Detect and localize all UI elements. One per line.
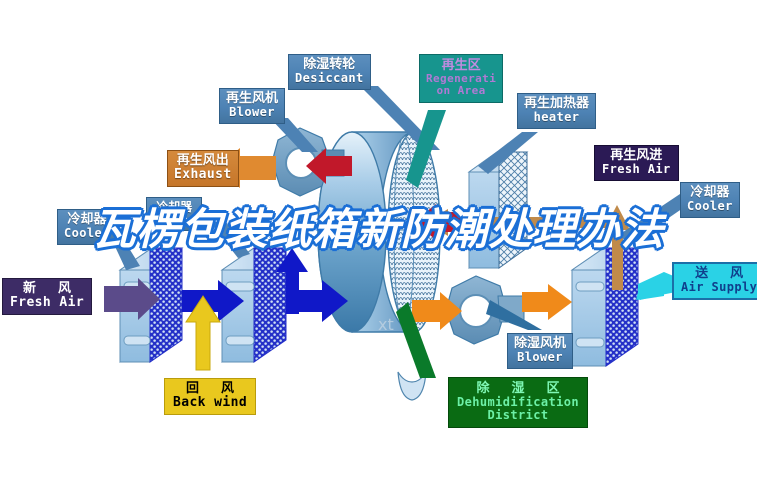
label-air-supply: 送风 Air Supply [672,262,757,300]
label-regen-area-cn: 再生区 [426,59,496,73]
label-dehum-blower-cn: 除湿风机 [514,337,566,351]
label-exhaust-cn: 再生风出 [174,154,232,168]
label-fresh-air: 新风 Fresh Air [2,278,92,315]
label-dehum-district-cn: 除湿区 [457,382,579,396]
dehum-cn2: 湿 [511,381,524,396]
label-heater-en: heater [524,111,589,124]
label-back-wind: 回风 Back wind [164,378,256,415]
label-cooler-middle-en: Cooler [153,214,195,226]
label-dehum-blower-en: Blower [514,351,566,364]
label-exhaust-en: Exhaust [174,168,232,182]
dehum-cn3: 区 [547,381,560,396]
label-dehum-blower: 除湿风机 Blower [507,333,573,369]
label-desiccant-cn: 除湿转轮 [295,58,364,72]
label-desiccant: 除湿转轮 Desiccant [288,54,371,90]
label-desiccant-en: Desiccant [295,72,364,85]
label-exhaust: 再生风出 Exhaust [167,150,239,187]
label-regen-blower: 再生风机 Blower [219,88,285,124]
label-regen-blower-cn: 再生风机 [226,92,278,106]
label-cooler-middle: 冷却器 Cooler [146,197,202,231]
label-air-supply-en: Air Supply [681,281,757,294]
back-wind-cn2: 风 [221,381,234,396]
label-regen-fresh-air-en: Fresh Air [602,163,671,176]
label-dehumidification-district: 除湿区 Dehumidification District [448,377,588,428]
label-cooler-right-cn: 冷却器 [687,186,733,200]
label-heater-cn: 再生加热器 [524,97,589,111]
label-dehum-district-en2: District [457,409,579,422]
regeneration-heater [469,152,527,268]
fresh-air-cn2: 风 [58,281,71,296]
label-back-wind-cn: 回风 [173,382,247,396]
air-supply-cn1: 送 [695,266,708,281]
label-regen-fresh-air-cn: 再生风进 [602,149,671,163]
label-regen-blower-en: Blower [226,106,278,119]
label-cooler-right-en: Cooler [687,200,733,213]
diagram-canvas: xt 除湿转轮 Desiccant 再生风机 Blower 再生区 Regene… [0,0,757,488]
label-cooler-middle-cn: 冷却器 [153,201,195,214]
label-cooler-left-en: Cooler [64,227,110,240]
label-cooler-left: 冷却器 Cooler [57,209,117,245]
label-fresh-air-en: Fresh Air [10,296,84,310]
arrow-blower-to-cooler [522,284,572,320]
label-regeneration-area: 再生区 Regenerati on Area [419,54,503,103]
watermark-text: xt [378,315,394,334]
label-regeneration-heater: 再生加热器 heater [517,93,596,129]
label-regen-fresh-air: 再生风进 Fresh Air [594,145,679,181]
label-air-supply-cn: 送风 [681,267,757,281]
label-fresh-air-cn: 新风 [10,282,84,296]
air-supply-cn2: 风 [730,266,743,281]
label-cooler-right: 冷却器 Cooler [680,182,740,218]
back-wind-cn1: 回 [186,381,199,396]
label-cooler-left-cn: 冷却器 [64,213,110,227]
fresh-air-cn1: 新 [23,281,36,296]
label-regen-area-en2: on Area [426,85,496,97]
cooler-unit-right [572,248,638,366]
label-back-wind-en: Back wind [173,396,247,410]
dehum-cn1: 除 [476,381,489,396]
